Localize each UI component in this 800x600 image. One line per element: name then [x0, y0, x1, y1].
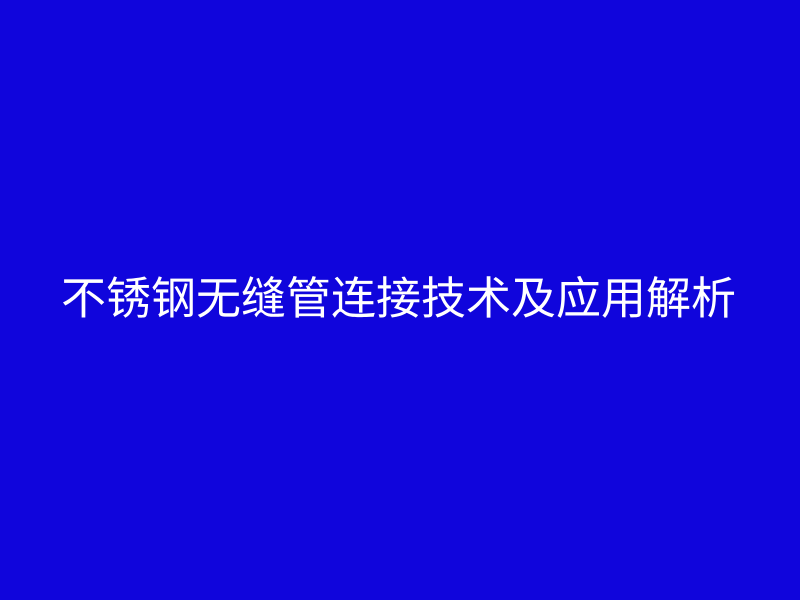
title-block: 不锈钢无缝管连接技术及应用解析 — [0, 262, 800, 336]
page-title: 不锈钢无缝管连接技术及应用解析 — [61, 273, 736, 325]
title-slide: 不锈钢无缝管连接技术及应用解析 — [0, 0, 800, 600]
